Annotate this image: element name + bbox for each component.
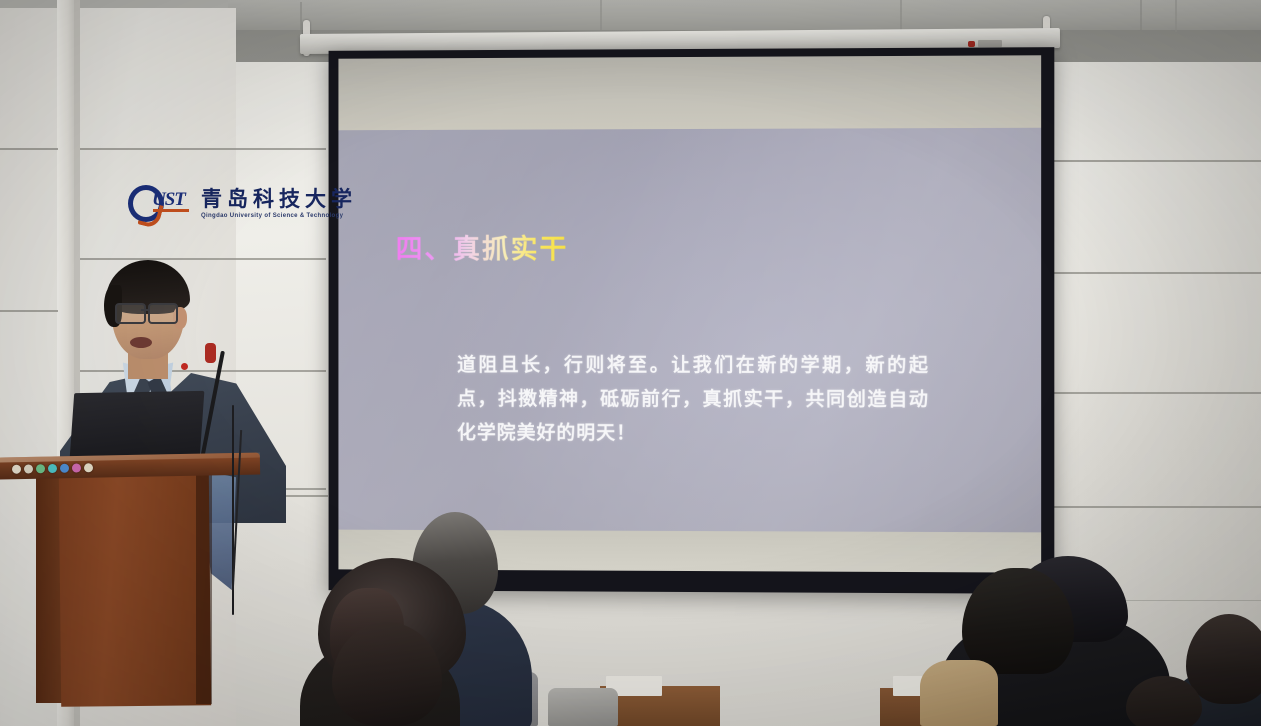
lecture-hall-photo: 四、真抓实干 道阻且长，行则将至。让我们在新的学期，新的起点，抖擞精神，砥砺前行… xyxy=(0,0,1261,726)
speaker-mouth xyxy=(130,337,152,348)
logo-name-en: Qingdao University of Science & Technolo… xyxy=(201,213,357,219)
screen-unprojected-top xyxy=(338,55,1041,130)
ceiling-seam xyxy=(600,0,602,30)
control-button-2[interactable] xyxy=(24,464,33,473)
screen-surface: 四、真抓实干 道阻且长，行则将至。让我们在新的学期，新的起点，抖擞精神，砥砺前行… xyxy=(338,55,1041,572)
university-logo: UST 青岛科技大学 Qingdao University of Science… xyxy=(128,176,343,230)
control-button-5[interactable] xyxy=(60,464,69,473)
ceiling-seam xyxy=(1175,0,1177,32)
podium-body xyxy=(59,473,211,707)
wall-groove xyxy=(1052,392,1261,394)
qust-mark-icon: UST xyxy=(128,183,192,223)
screen-indicator-icon xyxy=(968,41,975,47)
wall-groove xyxy=(0,148,58,150)
glasses-bridge-icon xyxy=(141,309,149,311)
podium-side-shadow xyxy=(196,474,212,704)
logo-name-cn: 青岛科技大学 xyxy=(201,187,357,211)
glasses-icon xyxy=(148,303,178,324)
control-button-3[interactable] xyxy=(36,464,45,473)
attendee-right-hood xyxy=(962,568,1074,674)
wall-groove xyxy=(1052,160,1261,162)
laptop-on-podium[interactable] xyxy=(70,391,205,459)
ceiling-seam xyxy=(900,0,902,30)
ceiling-seam xyxy=(1140,0,1142,30)
ceiling-seam xyxy=(300,2,302,30)
control-button-6[interactable] xyxy=(72,463,81,472)
slide-body-text: 道阻且长，行则将至。让我们在新的学期，新的起点，抖擞精神，砥砺前行，真抓实干，共… xyxy=(457,349,929,452)
logo-text-block: 青岛科技大学 Qingdao University of Science & T… xyxy=(201,187,357,219)
presentation-slide: 四、真抓实干 道阻且长，行则将至。让我们在新的学期，新的起点，抖擞精神，砥砺前行… xyxy=(338,128,1041,533)
wall-groove xyxy=(1052,272,1261,274)
control-button-4[interactable] xyxy=(48,464,57,473)
screen-housing-label xyxy=(978,40,1002,47)
logo-underline-icon xyxy=(153,209,189,212)
glasses-icon xyxy=(115,303,146,324)
podium-front-edge xyxy=(36,475,62,703)
podium-control-panel[interactable] xyxy=(12,463,93,474)
wall-groove xyxy=(1052,506,1261,508)
projection-screen[interactable]: 四、真抓实干 道阻且长，行则将至。让我们在新的学期，新的起点，抖擞精神，砥砺前行… xyxy=(329,47,1055,594)
slide-title: 四、真抓实干 xyxy=(396,227,569,266)
slide-glare xyxy=(338,128,1041,533)
control-button-1[interactable] xyxy=(12,465,21,474)
wall-groove xyxy=(0,310,58,312)
wall-groove xyxy=(80,148,326,150)
microphone-icon[interactable] xyxy=(205,343,216,363)
attendee-beige-coat xyxy=(920,660,998,726)
lapel-pin-icon xyxy=(181,363,188,370)
control-button-7[interactable] xyxy=(84,463,93,472)
logo-ust-letters: UST xyxy=(152,189,185,211)
audience-chair xyxy=(548,688,618,726)
